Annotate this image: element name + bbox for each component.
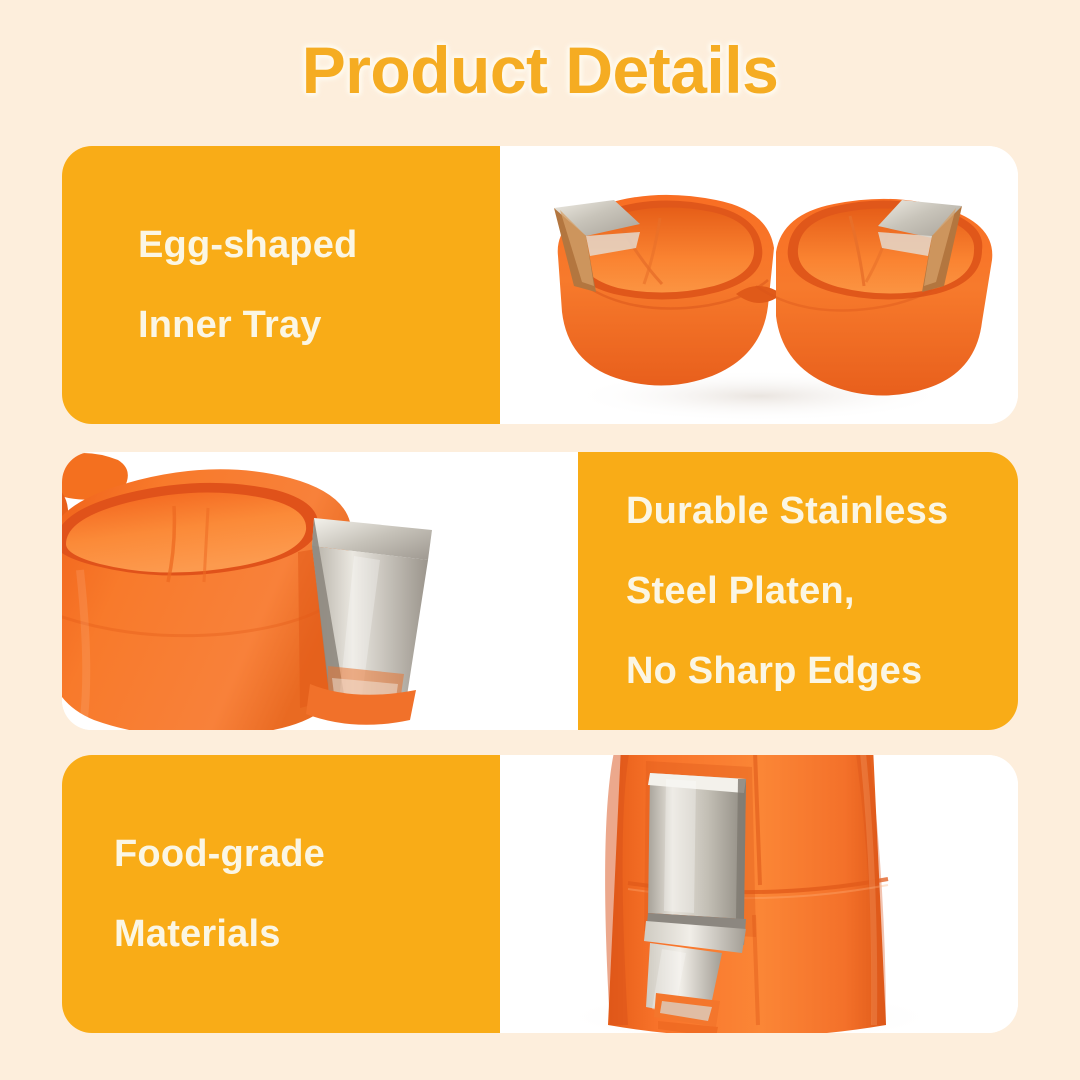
twin-egg-cup-tray-photo: [500, 146, 1018, 424]
feature-line: No Sharp Edges: [626, 631, 1018, 711]
feature-text-panel-1: Egg-shaped Inner Tray: [62, 146, 500, 424]
steel-clip-body-closeup-illustration: [500, 755, 1018, 1033]
feature-row-durable-stainless-steel-platen: Durable Stainless Steel Platen, No Sharp…: [62, 452, 1018, 730]
feature-line: Inner Tray: [138, 285, 500, 365]
page-title: Product Details: [0, 32, 1080, 108]
feature-text-panel-2: Durable Stainless Steel Platen, No Sharp…: [578, 452, 1018, 730]
feature-line: Food-grade: [114, 814, 500, 894]
steel-platen-closeup-photo: [62, 452, 578, 730]
feature-line: Materials: [114, 894, 500, 974]
feature-line: Egg-shaped: [138, 205, 500, 285]
feature-line: Steel Platen,: [626, 551, 1018, 631]
steel-platen-closeup-illustration: [62, 452, 578, 730]
feature-line: Durable Stainless: [626, 471, 1018, 551]
steel-clip-body-closeup-photo: [500, 755, 1018, 1033]
feature-row-egg-shaped-inner-tray: Egg-shaped Inner Tray: [62, 146, 1018, 424]
feature-text-panel-3: Food-grade Materials: [62, 755, 500, 1033]
twin-egg-cup-tray-illustration: [500, 146, 1018, 424]
feature-row-food-grade-materials: Food-grade Materials: [62, 755, 1018, 1033]
